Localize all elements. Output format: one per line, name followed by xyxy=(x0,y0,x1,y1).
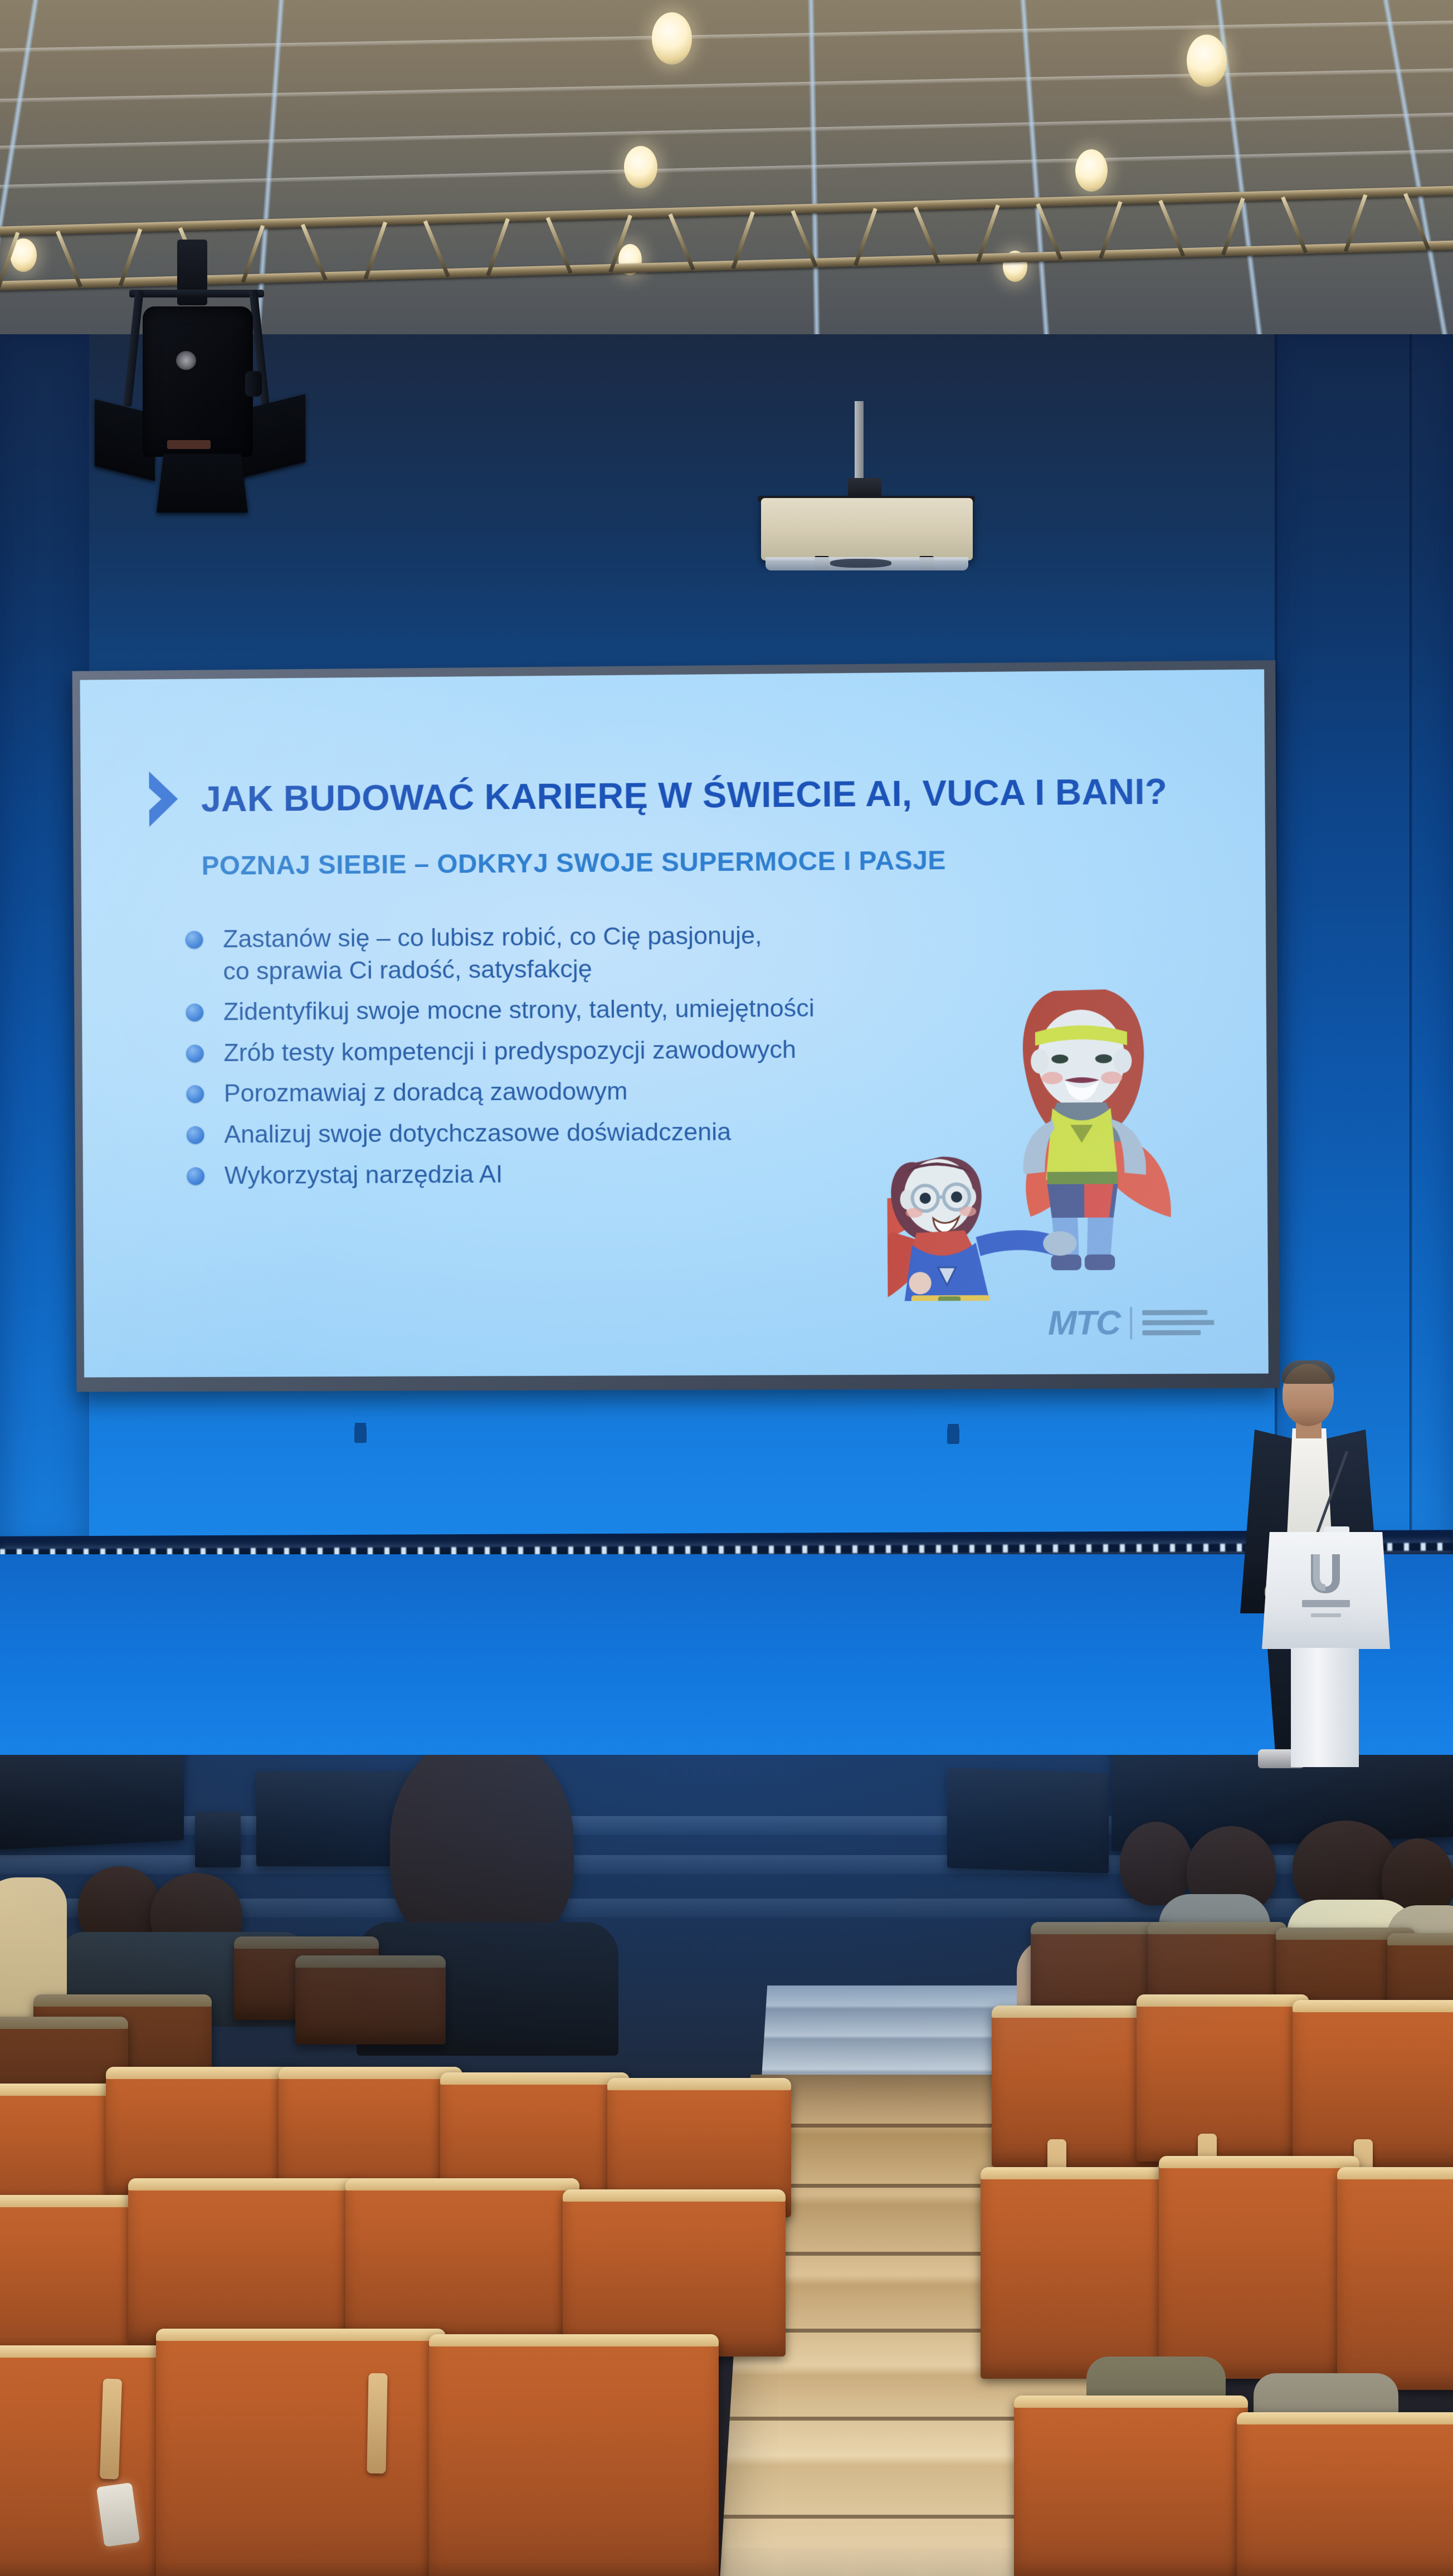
mtc-logo: MTC xyxy=(1048,1302,1215,1343)
auditorium-photo: JAK BUDOWAĆ KARIERĘ W ŚWIECIE AI, VUCA I… xyxy=(0,0,1453,2576)
bullet-dot-icon xyxy=(186,1085,204,1103)
auditorium-seat xyxy=(1159,2156,1359,2379)
recessed-downlight-icon xyxy=(1187,35,1227,87)
bullet-text: Zastanów się – co lubisz robić, co Cię p… xyxy=(223,919,762,987)
auditorium-seat xyxy=(345,2178,579,2345)
light-lens-icon xyxy=(176,351,196,370)
auditorium-seat xyxy=(1137,1994,1309,2162)
presentation-slide: JAK BUDOWAĆ KARIERĘ W ŚWIECIE AI, VUCA I… xyxy=(80,669,1269,1377)
bullet-dot-icon xyxy=(186,1004,203,1022)
wall-outlet-icon xyxy=(947,1427,959,1444)
stage-light-fixture xyxy=(78,240,312,513)
lectern xyxy=(1262,1532,1390,1766)
recessed-downlight-icon xyxy=(1075,149,1108,192)
auditorium-seat xyxy=(981,2167,1181,2379)
auditorium-seat xyxy=(295,1955,446,2045)
auditorium-seat xyxy=(1293,2000,1453,2167)
auditorium-seating xyxy=(0,1755,1453,2576)
stage-monitor-speaker xyxy=(947,1768,1109,1874)
auditorium-seat xyxy=(1337,2167,1453,2390)
auditorium-seat xyxy=(992,2006,1159,2167)
bullet-text: Zidentyfikuj swoje mocne strony, talenty… xyxy=(223,992,815,1028)
auditorium-seat xyxy=(0,2345,178,2576)
bullet-text: Porozmawiaj z doradcą zawodowym xyxy=(224,1075,628,1110)
auditorium-seat xyxy=(563,2189,786,2357)
ceiling-projector xyxy=(747,472,986,578)
chevron-right-icon xyxy=(145,769,180,829)
auditorium-seat xyxy=(1237,2412,1453,2576)
stage-monitor-speaker xyxy=(195,1812,241,1867)
recessed-downlight-icon xyxy=(624,146,657,188)
superhero-children-illustration xyxy=(886,964,1202,1301)
auditorium-seat xyxy=(1014,2396,1248,2576)
mtc-tagline xyxy=(1142,1310,1214,1335)
audience-member xyxy=(390,1755,574,1950)
bullet-dot-icon xyxy=(186,931,203,949)
projector-lens-icon xyxy=(830,559,891,568)
bullet-dot-icon xyxy=(187,1167,204,1185)
slide-title-row: JAK BUDOWAĆ KARIERĘ W ŚWIECIE AI, VUCA I… xyxy=(145,761,1167,830)
slide-subtitle: POZNAJ SIEBIE – ODKRYJ SWOJE SUPERMOCE I… xyxy=(201,845,946,881)
bullet-dot-icon xyxy=(187,1126,204,1144)
lectern-logo-icon xyxy=(1305,1552,1345,1596)
wall-outlet-icon xyxy=(354,1426,367,1443)
bullet-text: Wykorzystaj narzędzia AI xyxy=(225,1158,503,1191)
auditorium-seat xyxy=(156,2329,446,2576)
stage-monitor-speaker xyxy=(256,1772,412,1866)
auditorium-seat xyxy=(429,2334,719,2576)
mtc-wordmark: MTC xyxy=(1048,1303,1120,1343)
logo-divider xyxy=(1130,1306,1132,1339)
projection-screen-frame: JAK BUDOWAĆ KARIERĘ W ŚWIECIE AI, VUCA I… xyxy=(72,660,1280,1392)
bullet-text: Analizuj swoje dotychczasowe doświadczen… xyxy=(224,1115,731,1150)
bullet-dot-icon xyxy=(186,1045,204,1062)
stage-monitor-speaker xyxy=(0,1755,184,1850)
slide-title: JAK BUDOWAĆ KARIERĘ W ŚWIECIE AI, VUCA I… xyxy=(201,770,1168,819)
recessed-downlight-icon xyxy=(652,12,692,65)
auditorium-seat xyxy=(128,2178,362,2345)
bullet-text: Zrób testy kompetencji i predyspozycji z… xyxy=(223,1033,796,1069)
audience-member xyxy=(1120,1822,1192,1905)
